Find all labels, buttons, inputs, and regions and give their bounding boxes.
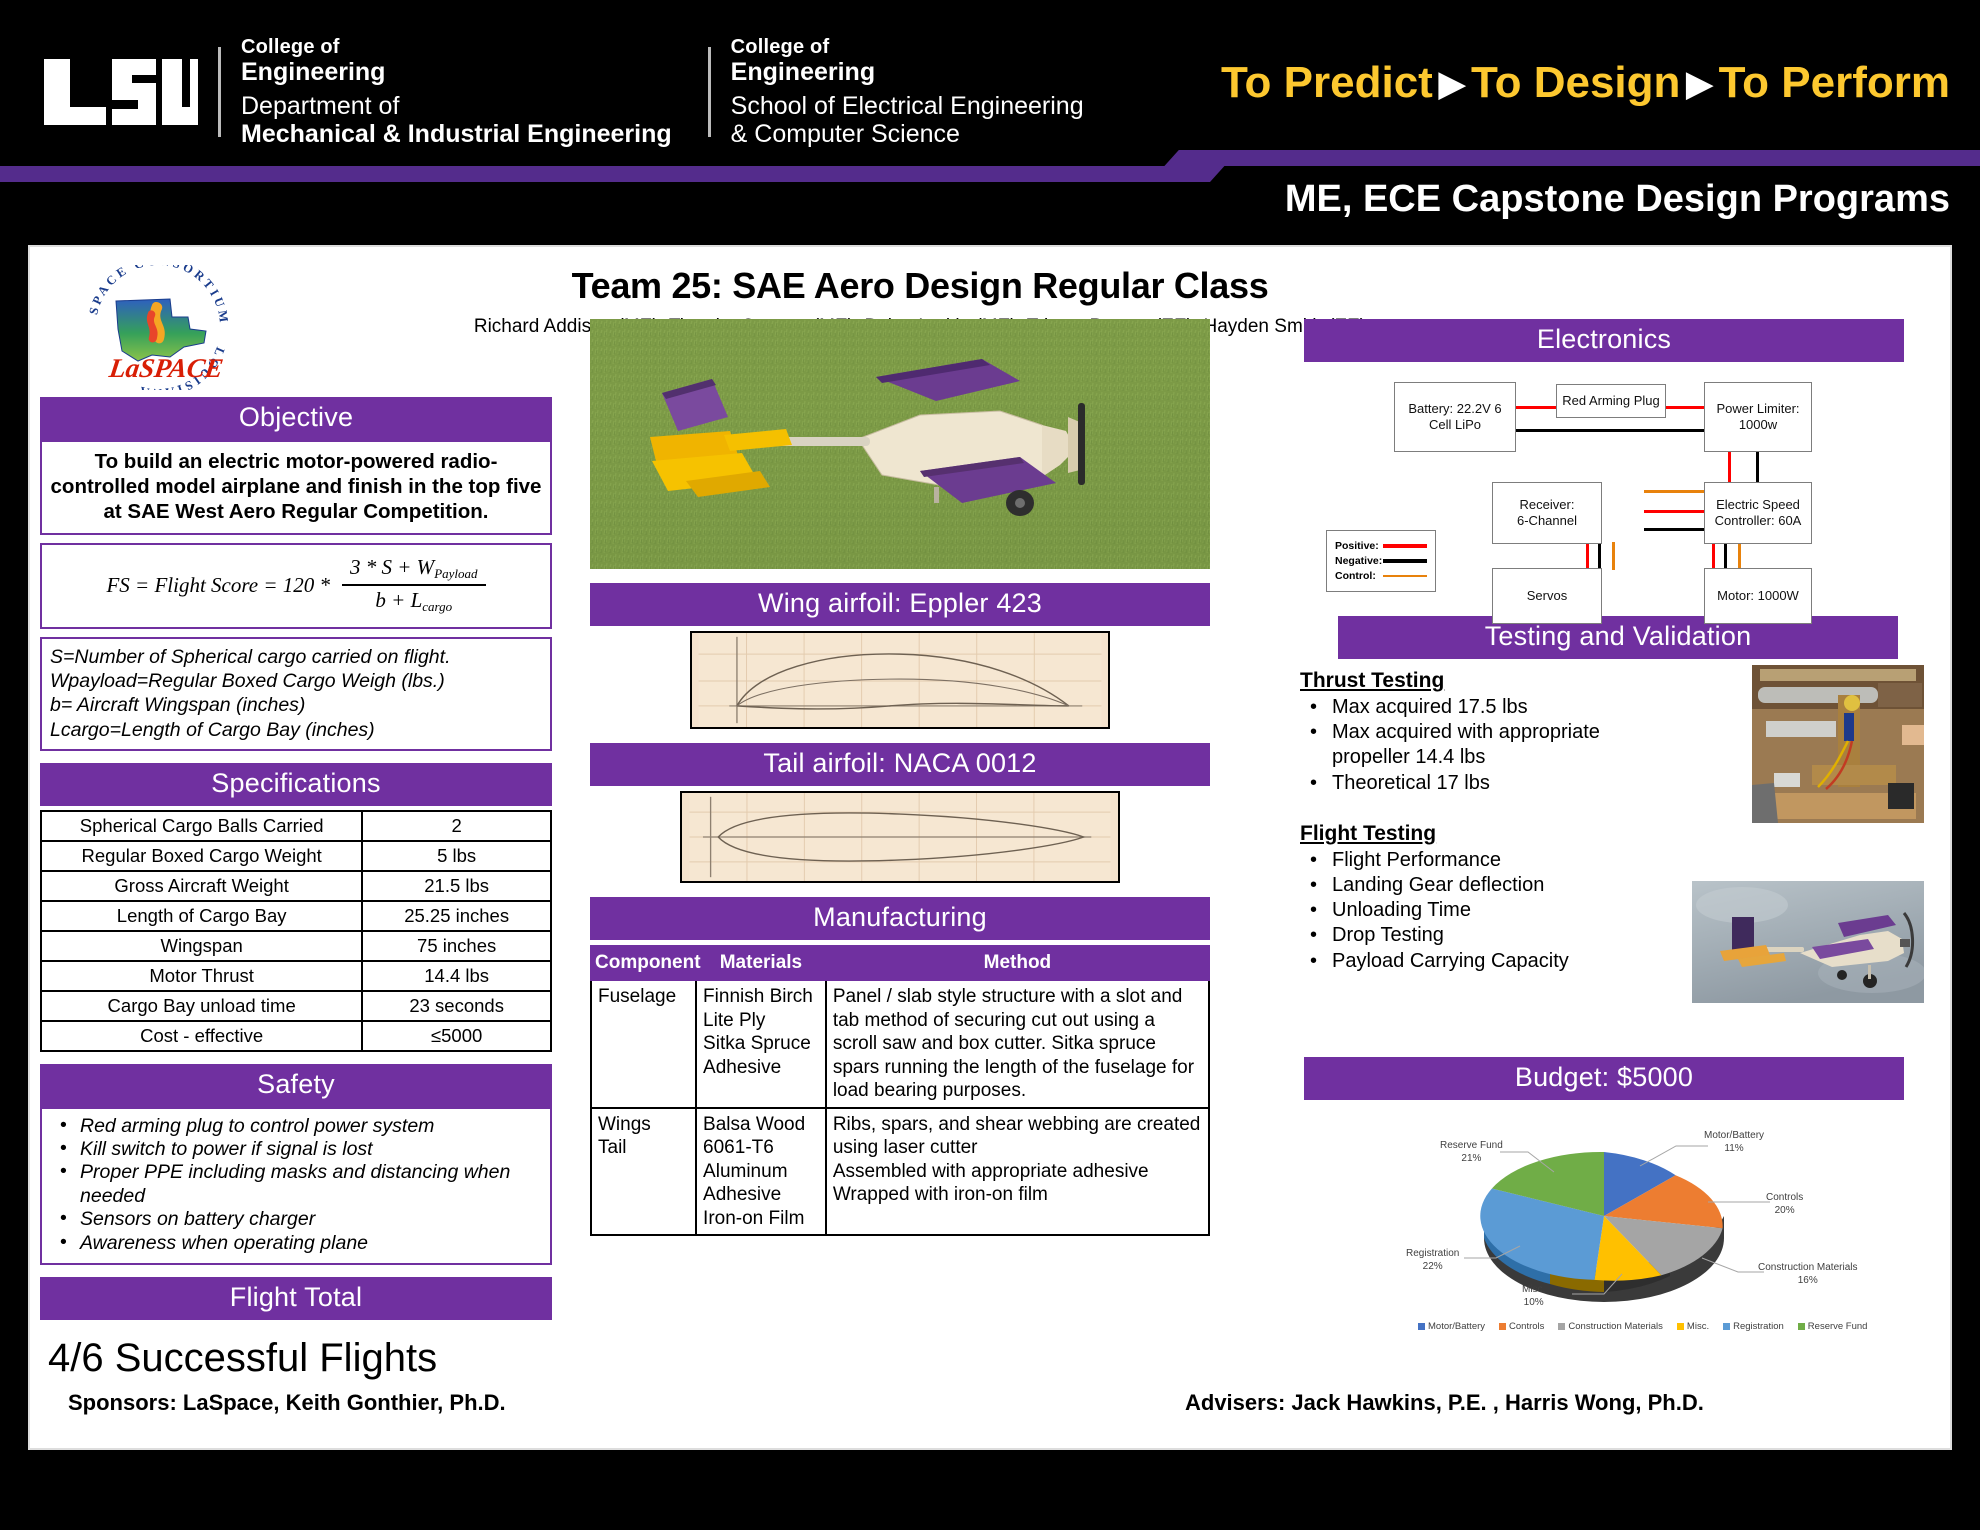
spec-key: Regular Boxed Cargo Weight	[41, 841, 362, 871]
column-header-component: Component	[591, 946, 696, 980]
legend-row-negative: Negative:	[1335, 555, 1427, 567]
flight-score-formula: FS = Flight Score = 120 * 3 * S + WPaylo…	[106, 555, 485, 615]
electronics-diagram: Battery: 22.2V 6 Cell LiPo Red Arming Pl…	[1304, 370, 1904, 602]
legend-swatch-positive	[1383, 544, 1427, 548]
pie-label-misc: Misc. 10%	[1522, 1284, 1545, 1309]
table-row: Wings Tail Balsa Wood 6061-T6 Aluminum A…	[591, 1108, 1209, 1236]
column-header-method: Method	[826, 946, 1209, 980]
header-divider	[218, 47, 221, 137]
table-row: Wingspan75 inches	[41, 931, 551, 961]
flight-testing-list: Flight Performance Landing Gear deflecti…	[1300, 848, 1670, 974]
flight-testing-heading: Flight Testing	[1300, 822, 1670, 846]
list-item: Proper PPE including masks and distancin…	[46, 1161, 540, 1208]
eecs-college-label: College of	[731, 36, 1084, 58]
table-row: Cargo Bay unload time23 seconds	[41, 991, 551, 1021]
wire-receiver-esc-negative	[1644, 528, 1706, 531]
aircraft-photo	[590, 319, 1210, 569]
list-item: Sensors on battery charger	[46, 1208, 540, 1231]
wire-receiver-esc-positive	[1644, 510, 1706, 513]
legend-label-negative: Negative:	[1335, 555, 1383, 567]
tagline-design: To Design	[1471, 58, 1680, 107]
legend-swatch-negative	[1383, 559, 1427, 563]
list-item: Max acquired 17.5 lbs	[1300, 695, 1670, 720]
legend-swatch	[1418, 1323, 1425, 1330]
legend-text: Registration	[1733, 1321, 1784, 1332]
list-item: Red arming plug to control power system	[46, 1115, 540, 1138]
advisers-text: Advisers: Jack Hawkins, P.E. , Harris Wo…	[1185, 1390, 1704, 1416]
formula-numerator-sub: Payload	[434, 566, 477, 581]
column-header-materials: Materials	[696, 946, 826, 980]
list-item: Unloading Time	[1300, 898, 1670, 923]
definition-item: Lcargo=Length of Cargo Bay (inches)	[50, 718, 544, 742]
tail-airfoil-diagram	[680, 791, 1120, 883]
legend-label-positive: Positive:	[1335, 540, 1383, 552]
wire-receiver-servos-negative	[1598, 542, 1601, 570]
spec-key: Motor Thrust	[41, 961, 362, 991]
list-item: Landing Gear deflection	[1300, 873, 1670, 898]
pie-label-value: 20%	[1775, 1205, 1795, 1216]
sponsors-text: Sponsors: LaSpace, Keith Gonthier, Ph.D.	[68, 1390, 506, 1416]
header-divider-2	[708, 47, 711, 137]
mfg-component: Wings Tail	[591, 1108, 696, 1236]
legend-row-control: Control:	[1335, 570, 1427, 582]
poster-footer: Sponsors: LaSpace, Keith Gonthier, Ph.D.…	[40, 1390, 1940, 1430]
budget-heading: Budget: $5000	[1304, 1057, 1904, 1100]
objective-box: To build an electric motor-powered radio…	[40, 440, 552, 535]
pie-label-controls: Controls 20%	[1766, 1192, 1803, 1217]
tail-airfoil-heading: Tail airfoil: NACA 0012	[590, 743, 1210, 786]
table-row: Spherical Cargo Balls Carried2	[41, 811, 551, 841]
objective-text: To build an electric motor-powered radio…	[42, 442, 550, 533]
electronics-block-power-limiter: Power Limiter: 1000w	[1704, 382, 1812, 452]
electronics-block-battery: Battery: 22.2V 6 Cell LiPo	[1394, 382, 1516, 452]
wire-receiver-servos-control	[1612, 542, 1615, 570]
specifications-section: Specifications Spherical Cargo Balls Car…	[40, 763, 552, 1052]
mfg-method: Panel / slab style structure with a slot…	[826, 980, 1209, 1108]
mfg-method: Ribs, spars, and shear webbing are creat…	[826, 1108, 1209, 1236]
legend-row-positive: Positive:	[1335, 540, 1427, 552]
wire-esc-motor-control	[1738, 542, 1741, 570]
header-band-upper	[1180, 150, 1980, 166]
pie-label-text: Registration	[1406, 1248, 1459, 1259]
formula-denominator-main: b + L	[375, 588, 422, 612]
flight-total-section: Flight Total 4/6 Successful Flights	[40, 1277, 552, 1381]
electronics-heading: Electronics	[1304, 319, 1904, 362]
header-purple-band	[0, 166, 1190, 182]
objective-heading: Objective	[40, 397, 552, 440]
tagline-predict: To Predict	[1221, 58, 1433, 107]
testing-body: Thrust Testing Max acquired 17.5 lbs Max…	[1300, 669, 1930, 1049]
electronics-legend: Positive: Negative: Control:	[1326, 530, 1436, 592]
pie-label-value: 22%	[1423, 1261, 1443, 1272]
header-unit-eecs: College of Engineering School of Electri…	[731, 36, 1084, 148]
list-item: Flight Performance	[1300, 848, 1670, 873]
thrust-testing-heading: Thrust Testing	[1300, 669, 1670, 693]
wire-limiter-esc-positive	[1728, 448, 1731, 486]
list-item: Max acquired with appropriate propeller …	[1300, 720, 1670, 770]
pie-label-value: 10%	[1524, 1297, 1544, 1308]
pie-legend-item: Construction Materials	[1558, 1321, 1663, 1332]
legend-swatch-control	[1383, 575, 1427, 577]
list-item: Drop Testing	[1300, 923, 1670, 948]
svg-text:LaSPACE: LaSPACE	[106, 353, 225, 383]
manufacturing-heading: Manufacturing	[590, 897, 1210, 940]
mfg-materials: Balsa Wood 6061-T6 Aluminum Adhesive Iro…	[696, 1108, 826, 1236]
table-row: Length of Cargo Bay25.25 inches	[41, 901, 551, 931]
pie-label-value: 16%	[1798, 1275, 1818, 1286]
spec-key: Cargo Bay unload time	[41, 991, 362, 1021]
electronics-block-esc: Electric Speed Controller: 60A	[1704, 482, 1812, 544]
poster-body: SPACE CONSORTIUM LOUISIANA LaSPACE Team …	[28, 245, 1952, 1450]
budget-pie-chart: Motor/Battery 11% Controls 20% Construct…	[1300, 1106, 1930, 1336]
electronics-block-receiver: Receiver: 6-Channel	[1492, 482, 1602, 544]
spec-value: 23 seconds	[362, 991, 551, 1021]
right-column: Electronics Battery: 22.2V 6 Cell LiPo R	[1300, 319, 1930, 1336]
wire-esc-motor-positive	[1712, 542, 1715, 570]
header-tagline: To Predict▶To Design▶To Perform	[1221, 58, 1950, 108]
middle-column: Wing airfoil: Eppler 423 Tail airfoil: N…	[590, 319, 1210, 1236]
testing-heading: Testing and Validation	[1338, 616, 1898, 659]
pie-label-text: Motor/Battery	[1704, 1130, 1764, 1141]
eecs-school-line1: School of Electrical Engineering	[731, 92, 1084, 120]
table-row: Cost - effective≤5000	[41, 1021, 551, 1051]
table-row: Regular Boxed Cargo Weight5 lbs	[41, 841, 551, 871]
tagline-arrow-1-icon: ▶	[1439, 65, 1465, 103]
formula-denominator-sub: cargo	[422, 599, 452, 614]
header-unit-mie: College of Engineering Department of Mec…	[241, 36, 672, 148]
spec-value: 5 lbs	[362, 841, 551, 871]
formula-numerator-main: 3 * S + W	[350, 555, 434, 579]
wire-limiter-esc-negative	[1756, 448, 1759, 486]
legend-label-control: Control:	[1335, 570, 1383, 582]
pie-legend-item: Reserve Fund	[1798, 1321, 1868, 1332]
wire-battery-limiter-negative	[1514, 429, 1706, 432]
variable-definitions-box: S=Number of Spherical cargo carried on f…	[40, 637, 552, 751]
thrust-testing-list: Max acquired 17.5 lbs Max acquired with …	[1300, 695, 1670, 796]
spec-key: Wingspan	[41, 931, 362, 961]
poster-header: College of Engineering Department of Mec…	[0, 0, 1980, 228]
legend-text: Reserve Fund	[1808, 1321, 1868, 1332]
wing-airfoil-diagram	[690, 631, 1110, 729]
pie-label-value: 11%	[1724, 1143, 1743, 1154]
tagline-perform: To Perform	[1719, 58, 1950, 107]
pie-legend-item: Registration	[1723, 1321, 1784, 1332]
pie-chart-legend: Motor/Battery Controls Construction Mate…	[1418, 1321, 1867, 1332]
flight-score-formula-box: FS = Flight Score = 120 * 3 * S + WPaylo…	[40, 543, 552, 629]
mie-college-label: College of	[241, 36, 672, 58]
flight-total-heading: Flight Total	[40, 1277, 552, 1320]
manufacturing-table: Component Materials Method Fuselage Finn…	[590, 945, 1210, 1236]
mie-dept-line1: Department of	[241, 92, 672, 120]
spec-key: Spherical Cargo Balls Carried	[41, 811, 362, 841]
spec-value: ≤5000	[362, 1021, 551, 1051]
list-item: Awareness when operating plane	[46, 1232, 540, 1255]
mie-dept-line2: Mechanical & Industrial Engineering	[241, 120, 672, 148]
legend-swatch	[1723, 1323, 1730, 1330]
table-row: Gross Aircraft Weight21.5 lbs	[41, 871, 551, 901]
table-row: Motor Thrust14.4 lbs	[41, 961, 551, 991]
definition-item: b= Aircraft Wingspan (inches)	[50, 693, 544, 717]
spec-value: 21.5 lbs	[362, 871, 551, 901]
list-item: Theoretical 17 lbs	[1300, 771, 1670, 796]
legend-swatch	[1558, 1323, 1565, 1330]
spec-value: 2	[362, 811, 551, 841]
pie-label-text: Misc.	[1522, 1284, 1545, 1295]
spec-key: Cost - effective	[41, 1021, 362, 1051]
list-item: Payload Carrying Capacity	[1300, 949, 1670, 974]
electronics-block-motor: Motor: 1000W	[1704, 568, 1812, 624]
header-subtitle: ME, ECE Capstone Design Programs	[1285, 178, 1950, 221]
pie-label-reserve-fund: Reserve Fund 21%	[1440, 1140, 1503, 1165]
spec-value: 25.25 inches	[362, 901, 551, 931]
laspace-logo-icon: SPACE CONSORTIUM LOUISIANA LaSPACE	[78, 265, 238, 390]
wire-receiver-esc-control	[1644, 490, 1706, 493]
table-header-row: Component Materials Method	[591, 946, 1209, 980]
legend-swatch	[1677, 1323, 1684, 1330]
pie-label-value: 21%	[1461, 1153, 1481, 1164]
table-row: Fuselage Finnish Birch Lite Ply Sitka Sp…	[591, 980, 1209, 1108]
mie-college-name: Engineering	[241, 58, 672, 86]
lsu-logo-icon	[36, 55, 204, 129]
flight-total-value: 4/6 Successful Flights	[40, 1320, 552, 1381]
legend-text: Controls	[1509, 1321, 1544, 1332]
safety-section: Safety Red arming plug to control power …	[40, 1064, 552, 1265]
pie-label-text: Reserve Fund	[1440, 1140, 1503, 1151]
electronics-block-servos: Servos	[1492, 568, 1602, 624]
safety-list: Red arming plug to control power system …	[46, 1115, 540, 1255]
electronics-block-arming-plug: Red Arming Plug	[1556, 384, 1666, 418]
mfg-materials: Finnish Birch Lite Ply Sitka Spruce Adhe…	[696, 980, 826, 1108]
pie-label-text: Controls	[1766, 1192, 1803, 1203]
pie-legend-item: Misc.	[1677, 1321, 1709, 1332]
formula-fraction: 3 * S + WPayload b + Lcargo	[342, 555, 486, 615]
specifications-table: Spherical Cargo Balls Carried2 Regular B…	[40, 810, 552, 1052]
wire-esc-motor-negative	[1724, 542, 1727, 570]
poster-root: College of Engineering Department of Mec…	[0, 0, 1980, 1530]
page-title: Team 25: SAE Aero Design Regular Class	[420, 265, 1420, 307]
legend-text: Misc.	[1687, 1321, 1709, 1332]
safety-box: Red arming plug to control power system …	[40, 1107, 552, 1265]
legend-swatch	[1499, 1323, 1506, 1330]
left-column: Objective To build an electric motor-pow…	[40, 397, 552, 1381]
budget-pie-svg	[1304, 1106, 1904, 1328]
specifications-heading: Specifications	[40, 763, 552, 806]
pie-label-motor-battery: Motor/Battery 11%	[1704, 1130, 1764, 1155]
spec-value: 75 inches	[362, 931, 551, 961]
eecs-school-line2: & Computer Science	[731, 120, 1084, 148]
formula-numerator: 3 * S + WPayload	[342, 555, 486, 586]
formula-denominator: b + Lcargo	[367, 586, 460, 615]
legend-text: Construction Materials	[1568, 1321, 1663, 1332]
list-item: Kill switch to power if signal is lost	[46, 1138, 540, 1161]
safety-heading: Safety	[40, 1064, 552, 1107]
tagline-arrow-2-icon: ▶	[1686, 65, 1712, 103]
thrust-test-photo	[1752, 665, 1924, 823]
pie-label-construction-materials: Construction Materials 16%	[1758, 1262, 1857, 1287]
spec-key: Gross Aircraft Weight	[41, 871, 362, 901]
formula-lhs: FS = Flight Score = 120 *	[106, 573, 330, 598]
legend-text: Motor/Battery	[1428, 1321, 1485, 1332]
spec-value: 14.4 lbs	[362, 961, 551, 991]
flight-test-photo	[1692, 881, 1924, 1003]
wire-receiver-servos-positive	[1586, 542, 1589, 570]
wing-airfoil-heading: Wing airfoil: Eppler 423	[590, 583, 1210, 626]
definition-item: Wpayload=Regular Boxed Cargo Weigh (lbs.…	[50, 669, 544, 693]
pie-legend-item: Controls	[1499, 1321, 1544, 1332]
eecs-college-name: Engineering	[731, 58, 1084, 86]
pie-label-registration: Registration 22%	[1406, 1248, 1459, 1273]
spec-key: Length of Cargo Bay	[41, 901, 362, 931]
definition-item: S=Number of Spherical cargo carried on f…	[50, 645, 544, 669]
pie-legend-item: Motor/Battery	[1418, 1321, 1485, 1332]
testing-text-column: Thrust Testing Max acquired 17.5 lbs Max…	[1300, 669, 1670, 974]
pie-label-text: Construction Materials	[1758, 1262, 1857, 1273]
mfg-component: Fuselage	[591, 980, 696, 1108]
legend-swatch	[1798, 1323, 1805, 1330]
